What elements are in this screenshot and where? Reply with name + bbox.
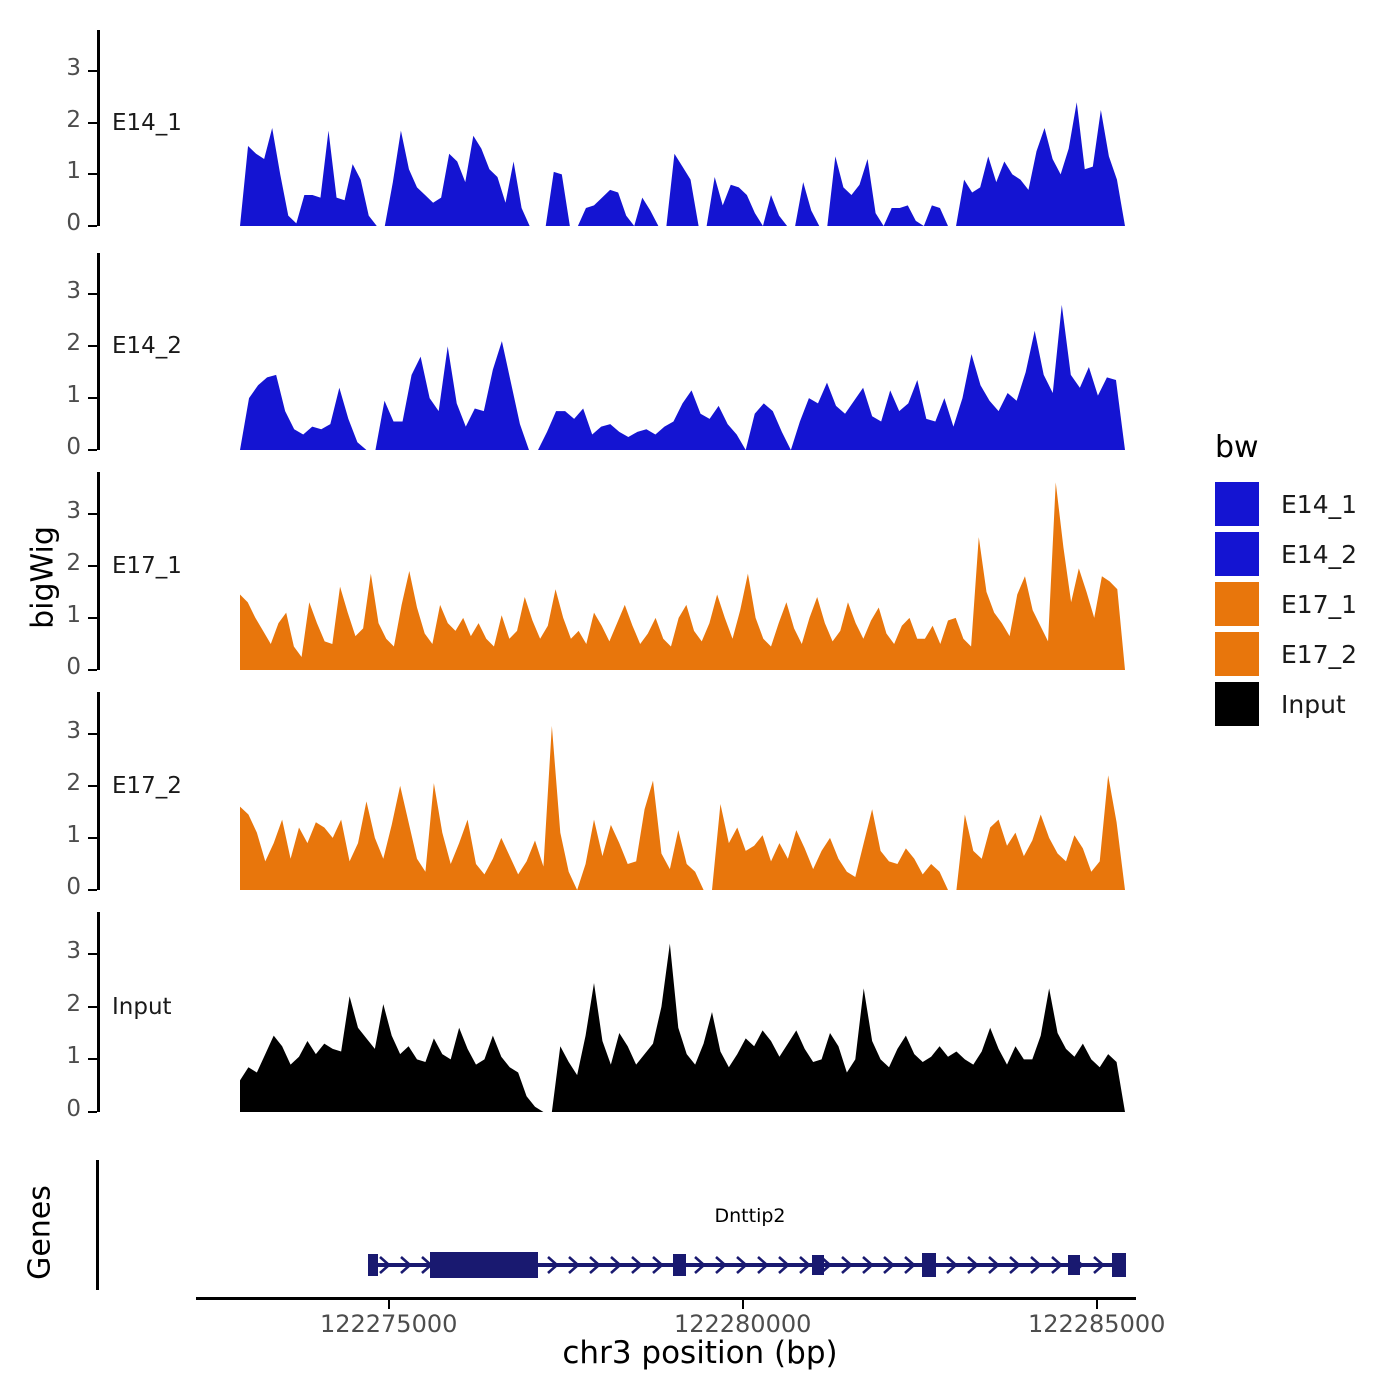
legend-color-swatch-e14_1 [1215,482,1259,526]
gene-model [0,1240,1400,1290]
legend-color-swatch-e17_1 [1215,582,1259,626]
y-tick-e14_2-0 [88,449,97,451]
y-tick-e17_1-3 [88,513,97,515]
y-tick-e17_2-3 [88,733,97,735]
wig-signal-input [240,912,1125,1114]
y-tick-label-e14_2-0: 0 [31,434,81,460]
y-tick-label-e14_1-2: 2 [31,107,81,133]
legend-label-e17_2: E17_2 [1281,640,1357,669]
x-axis-line [196,1297,1136,1300]
y-tick-e14_2-3 [88,293,97,295]
y-tick-label-e14_1-0: 0 [31,210,81,236]
y-tick-label-e14_2-2: 2 [31,330,81,356]
x-tick-1 [742,1300,744,1309]
y-tick-e17_1-0 [88,669,97,671]
x-tick-0 [388,1300,390,1309]
y-tick-label-input-2: 2 [31,991,81,1017]
y-tick-e17_2-1 [88,837,97,839]
legend-label-e14_2: E14_2 [1281,540,1357,569]
y-tick-label-input-0: 0 [31,1096,81,1122]
legend-item-input[interactable]: Input [1215,682,1346,726]
y-tick-e14_2-2 [88,345,97,347]
y-tick-e17_1-1 [88,617,97,619]
y-tick-label-input-3: 3 [31,938,81,964]
wig-signal-e14_1 [240,30,1125,228]
wig-signal-e17_1 [240,472,1125,672]
y-tick-e14_1-0 [88,225,97,227]
legend-color-swatch-e14_2 [1215,532,1259,576]
gene-name-label: Dnttip2 [640,1205,860,1227]
legend-label-e14_1: E14_1 [1281,490,1357,519]
y-tick-e14_2-1 [88,397,97,399]
y-tick-label-e14_1-1: 1 [31,158,81,184]
y-tick-e17_2-0 [88,889,97,891]
x-tick-label-2: 122285000 [987,1310,1207,1338]
y-tick-label-e17_1-0: 0 [31,654,81,680]
legend: bw E14_1E14_2E17_1E17_2Input [1215,430,1400,740]
legend-item-e14_2[interactable]: E14_2 [1215,532,1357,576]
x-tick-label-0: 122275000 [279,1310,499,1338]
y-tick-e17_2-2 [88,785,97,787]
track-label-e14_2: E14_2 [112,333,182,359]
y-tick-label-e17_1-3: 3 [31,498,81,524]
y-axis-line-e17_1 [97,472,100,670]
x-tick-label-1: 122280000 [633,1310,853,1338]
y-tick-e14_1-1 [88,173,97,175]
wig-signal-e14_2 [240,253,1125,452]
x-tick-2 [1096,1300,1098,1309]
track-label-e17_1: E17_1 [112,553,182,579]
track-label-input: Input [112,994,172,1020]
wig-signal-e17_2 [240,692,1125,892]
y-tick-label-e17_2-2: 2 [31,770,81,796]
y-tick-label-e17_1-1: 1 [31,602,81,628]
legend-item-e14_1[interactable]: E14_1 [1215,482,1357,526]
y-axis-line-e14_2 [97,253,100,450]
legend-label-e17_1: E17_1 [1281,590,1357,619]
y-tick-label-e14_2-3: 3 [31,278,81,304]
legend-label-input: Input [1281,690,1346,719]
x-axis-title: chr3 position (bp) [0,1335,1400,1371]
y-tick-label-e17_1-2: 2 [31,550,81,576]
legend-title: bw [1215,430,1259,465]
track-label-e14_1: E14_1 [112,110,182,136]
y-tick-e17_1-2 [88,565,97,567]
figure-root: bigWig Genes 0123E14_10123E14_20123E17_1… [0,0,1400,1400]
legend-color-swatch-input [1215,682,1259,726]
y-tick-label-e14_2-1: 1 [31,382,81,408]
y-tick-label-e17_2-3: 3 [31,718,81,744]
y-tick-input-0 [88,1111,97,1113]
y-tick-e14_1-2 [88,122,97,124]
y-tick-label-input-1: 1 [31,1043,81,1069]
legend-item-e17_2[interactable]: E17_2 [1215,632,1357,676]
y-axis-line-input [97,912,100,1112]
y-tick-input-2 [88,1006,97,1008]
gene-model-svg [0,1240,1400,1290]
y-tick-e14_1-3 [88,70,97,72]
y-axis-line-e14_1 [97,30,100,226]
y-axis-line-e17_2 [97,692,100,890]
y-tick-input-1 [88,1058,97,1060]
y-tick-label-e17_2-1: 1 [31,822,81,848]
y-tick-label-e17_2-0: 0 [31,874,81,900]
legend-color-swatch-e17_2 [1215,632,1259,676]
y-tick-label-e14_1-3: 3 [31,55,81,81]
y-tick-input-3 [88,953,97,955]
legend-item-e17_1[interactable]: E17_1 [1215,582,1357,626]
track-label-e17_2: E17_2 [112,773,182,799]
